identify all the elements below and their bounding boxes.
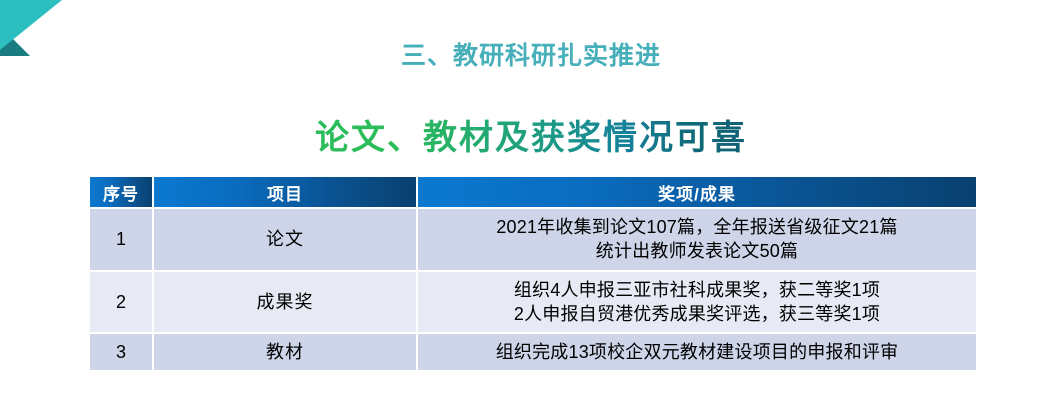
cell-item: 成果奖: [154, 272, 416, 333]
cell-item: 论文: [154, 209, 416, 270]
slide-headline-text: 论文、教材及获奖情况可喜: [315, 119, 747, 157]
result-line: 组织完成13项校企双元教材建设项目的申报和评审: [422, 340, 972, 364]
cell-result: 组织完成13项校企双元教材建设项目的申报和评审: [418, 334, 976, 370]
table-row: 3 教材 组织完成13项校企双元教材建设项目的申报和评审: [90, 334, 976, 370]
cell-no: 1: [90, 209, 152, 270]
table-row: 2 成果奖 组织4人申报三亚市社科成果奖，获二等奖1项 2人申报自贸港优秀成果奖…: [90, 272, 976, 333]
result-line: 统计出教师发表论文50篇: [422, 239, 972, 263]
cell-result: 2021年收集到论文107篇，全年报送省级征文21篇 统计出教师发表论文50篇: [418, 209, 976, 270]
cell-item: 教材: [154, 334, 416, 370]
section-title: 三、教研科研扎实推进: [0, 36, 1062, 72]
result-line: 组织4人申报三亚市社科成果奖，获二等奖1项: [422, 278, 972, 302]
result-line: 2人申报自贸港优秀成果奖评选，获三等奖1项: [422, 302, 972, 326]
slide-headline: 论文、教材及获奖情况可喜: [0, 110, 1062, 159]
column-header-no: 序号: [90, 177, 152, 207]
table-header-row: 序号 项目 奖项/成果: [90, 177, 976, 207]
results-table: 序号 项目 奖项/成果 1 论文 2021年收集到论文107篇，全年报送省级征文…: [88, 175, 978, 372]
table-head: 序号 项目 奖项/成果: [90, 177, 976, 207]
column-header-item: 项目: [154, 177, 416, 207]
cell-no: 2: [90, 272, 152, 333]
table-row: 1 论文 2021年收集到论文107篇，全年报送省级征文21篇 统计出教师发表论…: [90, 209, 976, 270]
result-line: 2021年收集到论文107篇，全年报送省级征文21篇: [422, 215, 972, 239]
cell-no: 3: [90, 334, 152, 370]
table-body: 1 论文 2021年收集到论文107篇，全年报送省级征文21篇 统计出教师发表论…: [90, 209, 976, 370]
cell-result: 组织4人申报三亚市社科成果奖，获二等奖1项 2人申报自贸港优秀成果奖评选，获三等…: [418, 272, 976, 333]
column-header-result: 奖项/成果: [418, 177, 976, 207]
